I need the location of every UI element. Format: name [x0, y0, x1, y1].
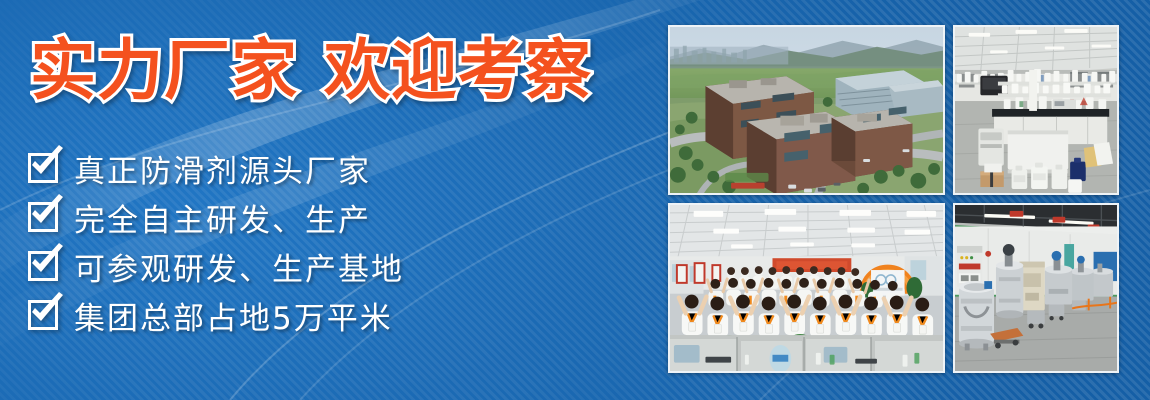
- list-item-label: 完全自主研发、生产: [74, 195, 371, 240]
- checkbox-checked-icon: [28, 251, 58, 281]
- page-title: 实力厂家欢迎考察: [30, 38, 592, 104]
- headline-part-1: 实力厂家: [30, 32, 298, 109]
- photo-laboratory: [953, 25, 1119, 195]
- list-item: 真正防滑剂源头厂家: [28, 146, 404, 190]
- list-item: 可参观研发、生产基地: [28, 244, 404, 288]
- photo-production-workshop: [953, 203, 1119, 373]
- text-column: 实力厂家欢迎考察 真正防滑剂源头厂家 完全自主研发、生产: [0, 0, 660, 400]
- feature-list: 真正防滑剂源头厂家 完全自主研发、生产 可参观研发、生产基地: [28, 146, 404, 337]
- checkbox-checked-icon: [28, 300, 58, 330]
- photo-grid: [668, 25, 1119, 373]
- list-item-label: 真正防滑剂源头厂家: [74, 146, 371, 191]
- checkbox-checked-icon: [28, 153, 58, 183]
- photo-campus-aerial: [668, 25, 945, 195]
- checkbox-checked-icon: [28, 202, 58, 232]
- list-item-label: 集团总部占地5万平米: [74, 293, 393, 338]
- list-item: 完全自主研发、生产: [28, 195, 404, 239]
- list-item-label: 可参观研发、生产基地: [74, 244, 404, 289]
- list-item: 集团总部占地5万平米: [28, 293, 404, 337]
- headline-part-2: 欢迎考察: [324, 32, 592, 109]
- promotional-banner: 实力厂家欢迎考察 真正防滑剂源头厂家 完全自主研发、生产: [0, 0, 1150, 400]
- photo-office-staff: [668, 203, 945, 373]
